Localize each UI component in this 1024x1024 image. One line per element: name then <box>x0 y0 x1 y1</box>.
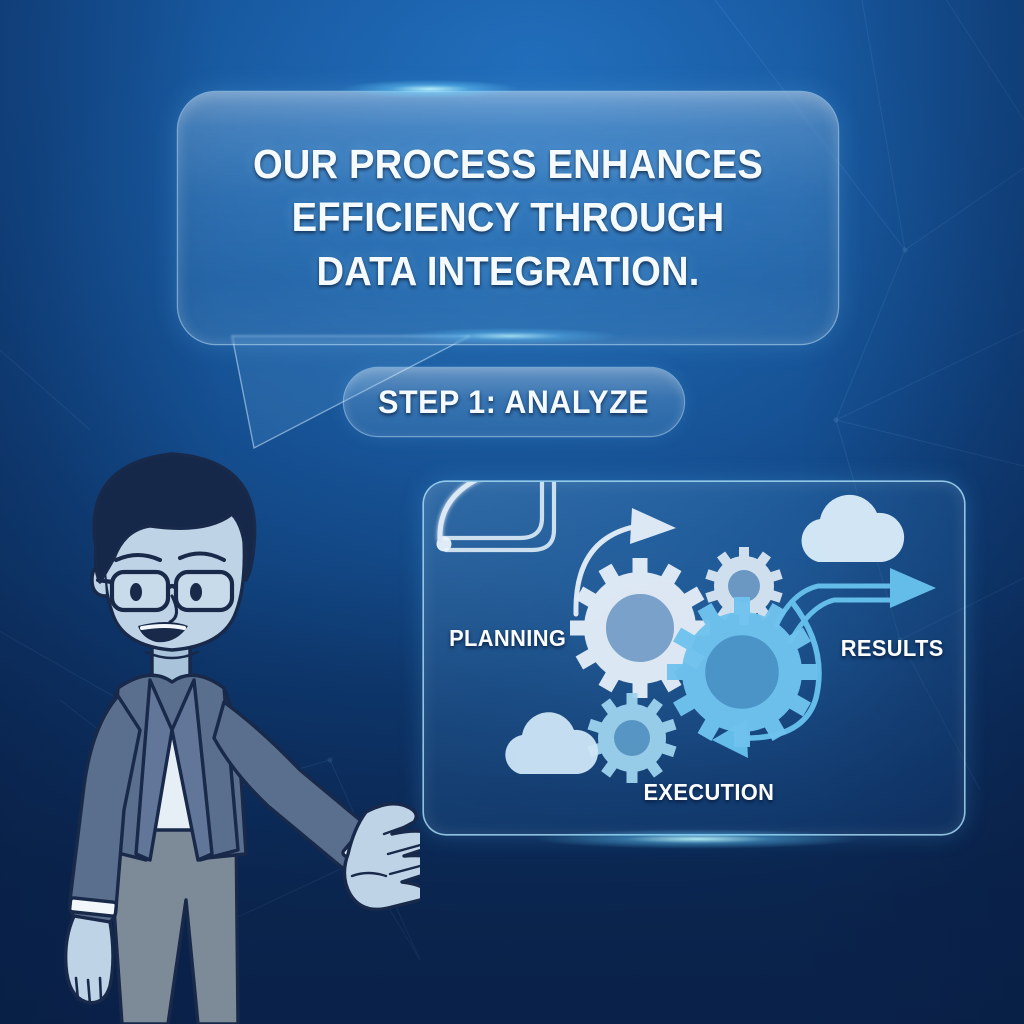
speech-bubble: OUR PROCESS ENHANCES EFFICIENCY THROUGH … <box>178 92 838 344</box>
step-pill-label: STEP 1: ANALYZE <box>379 384 650 421</box>
diagram-label-results: RESULTS <box>841 635 944 662</box>
slide-canvas: OUR PROCESS ENHANCES EFFICIENCY THROUGH … <box>0 0 1024 1024</box>
diagram-label-execution: EXECUTION <box>643 779 774 806</box>
speech-bubble-text: OUR PROCESS ENHANCES EFFICIENCY THROUGH … <box>201 92 815 344</box>
step-pill[interactable]: STEP 1: ANALYZE <box>344 368 684 436</box>
presenter-character <box>0 430 420 1024</box>
diagram-label-planning: PLANNING <box>449 625 566 652</box>
